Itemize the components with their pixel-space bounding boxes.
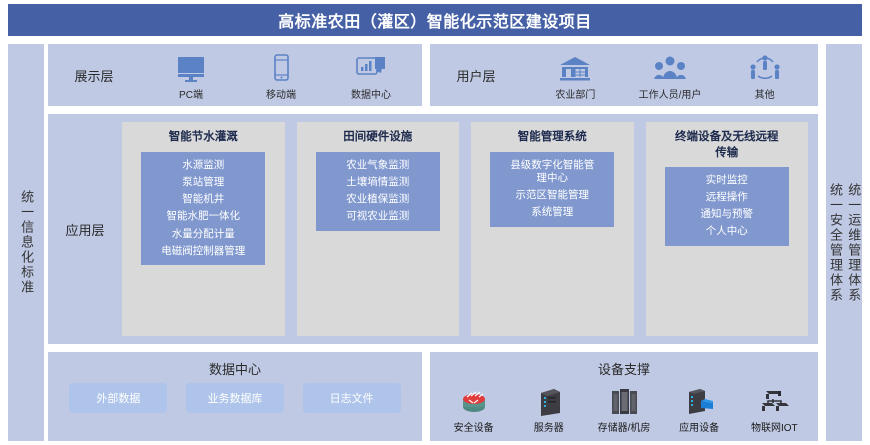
app-card-item[interactable]: 智能机井 — [182, 191, 224, 208]
app-card-title: 智能节水灌溉 — [169, 130, 238, 146]
app-card-item[interactable]: 电磁阀控制器管理 — [161, 243, 245, 260]
display-layer-label: 展示层 — [48, 66, 140, 85]
app-card-item[interactable]: 土壤墒情监测 — [346, 174, 409, 191]
data-dashboard-icon — [355, 49, 387, 83]
firewall-router-icon — [458, 383, 490, 417]
device-item-iot[interactable]: 物联网IOT — [739, 383, 809, 434]
architecture-diagram: 高标准农田（灌区）智能化示范区建设项目 统一信息化标准 统一安全管理体系 统一运… — [0, 0, 870, 445]
app-card-item[interactable]: 示范区智能管理 — [515, 187, 589, 204]
display-item-pc[interactable]: PC端 — [148, 49, 234, 101]
app-card-items: 农业气象监测 土壤墒情监测 农业植保监测 可视农业监测 — [316, 152, 440, 231]
server-tower-icon — [534, 383, 564, 417]
left-rail-unified-informatization-standard: 统一信息化标准 — [8, 44, 44, 441]
display-item-mobile-label: 移动端 — [266, 86, 296, 101]
storage-rack-icon — [608, 383, 640, 417]
display-item-mobile[interactable]: 移动端 — [238, 49, 324, 101]
app-card-item[interactable]: 个人中心 — [706, 223, 748, 240]
user-item-agriculture-dept-label: 农业部门 — [555, 86, 595, 101]
app-card-smart-irrigation[interactable]: 智能节水灌溉 水源监测 泵站管理 智能机井 智能水肥一体化 水量分配计量 电磁阀… — [122, 122, 285, 336]
device-item-server-label: 服务器 — [534, 419, 564, 434]
display-item-data-center[interactable]: 数据中心 — [328, 49, 414, 101]
app-card-title: 终端设备及无线远程 传输 — [675, 130, 779, 161]
app-card-title: 智能管理系统 — [518, 130, 587, 146]
app-device-icon — [683, 383, 715, 417]
app-card-field-hardware[interactable]: 田间硬件设施 农业气象监测 土壤墒情监测 农业植保监测 可视农业监测 — [297, 122, 460, 336]
users-group-icon — [653, 49, 687, 83]
device-support-items: 安全设备 服务器 存储器/机房 应用设备 — [430, 383, 818, 434]
device-item-security[interactable]: 安全设备 — [439, 383, 509, 434]
device-support-panel: 设备支撑 安全设备 服务器 存储器/机房 — [430, 352, 818, 441]
app-card-terminal-wireless[interactable]: 终端设备及无线远程 传输 实时监控 远程操作 通知与预警 个人中心 — [646, 122, 809, 336]
device-item-storage[interactable]: 存储器/机房 — [589, 383, 659, 434]
device-item-app-device-label: 应用设备 — [679, 419, 719, 434]
right-rail-label-security: 统一安全管理体系 — [828, 183, 842, 303]
application-layer-label: 应用层 — [48, 114, 122, 344]
device-item-server[interactable]: 服务器 — [514, 383, 584, 434]
app-card-item[interactable]: 远程操作 — [706, 189, 748, 206]
iot-network-icon — [758, 383, 790, 417]
right-rail-management-systems: 统一安全管理体系 统一运维管理体系 — [826, 44, 862, 441]
application-layer-cards: 智能节水灌溉 水源监测 泵站管理 智能机井 智能水肥一体化 水量分配计量 电磁阀… — [122, 114, 818, 344]
monitor-icon — [176, 49, 206, 83]
data-chip-log-file[interactable]: 日志文件 — [303, 383, 401, 413]
left-rail-label: 统一信息化标准 — [19, 190, 33, 295]
display-item-pc-label: PC端 — [179, 86, 203, 101]
device-item-storage-label: 存储器/机房 — [598, 419, 651, 434]
user-item-other[interactable]: 其他 — [722, 49, 808, 101]
app-card-item[interactable]: 水源监测 — [182, 157, 224, 174]
app-card-title: 田间硬件设施 — [343, 130, 412, 146]
user-layer-panel: 用户层 农业部门 工作人员/用户 — [430, 44, 818, 106]
data-chip-external[interactable]: 外部数据 — [69, 383, 167, 413]
app-card-item[interactable]: 智能水肥一体化 — [166, 208, 240, 225]
user-item-agriculture-dept[interactable]: 农业部门 — [532, 49, 618, 101]
user-layer-label: 用户层 — [430, 66, 522, 85]
right-rail-label-operations: 统一运维管理体系 — [846, 183, 860, 303]
app-card-item[interactable]: 可视农业监测 — [346, 208, 409, 225]
user-item-staff-label: 工作人员/用户 — [639, 86, 702, 101]
display-layer-items: PC端 移动端 数据中心 — [140, 49, 422, 101]
application-layer-panel: 应用层 智能节水灌溉 水源监测 泵站管理 智能机井 智能水肥一体化 水量分配计量… — [48, 114, 818, 344]
user-item-staff[interactable]: 工作人员/用户 — [627, 49, 713, 101]
app-card-item[interactable]: 系统管理 — [531, 204, 573, 221]
user-item-other-label: 其他 — [755, 86, 775, 101]
app-card-item[interactable]: 农业气象监测 — [346, 157, 409, 174]
page-title: 高标准农田（灌区）智能化示范区建设项目 — [8, 4, 862, 36]
app-card-item[interactable]: 县级数字化智能管 理中心 — [510, 157, 594, 187]
data-chip-business-db[interactable]: 业务数据库 — [186, 383, 284, 413]
app-card-items: 县级数字化智能管 理中心 示范区智能管理 系统管理 — [490, 152, 614, 227]
device-item-security-label: 安全设备 — [454, 419, 494, 434]
app-card-item[interactable]: 农业植保监测 — [346, 191, 409, 208]
app-card-items: 实时监控 远程操作 通知与预警 个人中心 — [665, 167, 789, 246]
app-card-smart-management[interactable]: 智能管理系统 县级数字化智能管 理中心 示范区智能管理 系统管理 — [471, 122, 634, 336]
display-layer-panel: 展示层 PC端 移动端 — [48, 44, 422, 106]
device-item-app-device[interactable]: 应用设备 — [664, 383, 734, 434]
app-card-items: 水源监测 泵站管理 智能机井 智能水肥一体化 水量分配计量 电磁阀控制器管理 — [141, 152, 265, 265]
people-cycle-icon — [748, 49, 782, 83]
app-card-item[interactable]: 通知与预警 — [700, 206, 753, 223]
device-support-title: 设备支撑 — [430, 352, 818, 383]
user-layer-items: 农业部门 工作人员/用户 其他 — [522, 49, 818, 101]
data-center-chips: 外部数据 业务数据库 日志文件 — [48, 383, 422, 413]
app-card-item[interactable]: 泵站管理 — [182, 174, 224, 191]
device-item-iot-label: 物联网IOT — [751, 419, 798, 434]
data-center-panel: 数据中心 外部数据 业务数据库 日志文件 — [48, 352, 422, 441]
bank-building-icon — [558, 49, 592, 83]
display-item-data-center-label: 数据中心 — [351, 86, 391, 101]
mobile-icon — [266, 49, 296, 83]
data-center-title: 数据中心 — [48, 352, 422, 383]
app-card-item[interactable]: 实时监控 — [706, 172, 748, 189]
app-card-item[interactable]: 水量分配计量 — [172, 226, 235, 243]
